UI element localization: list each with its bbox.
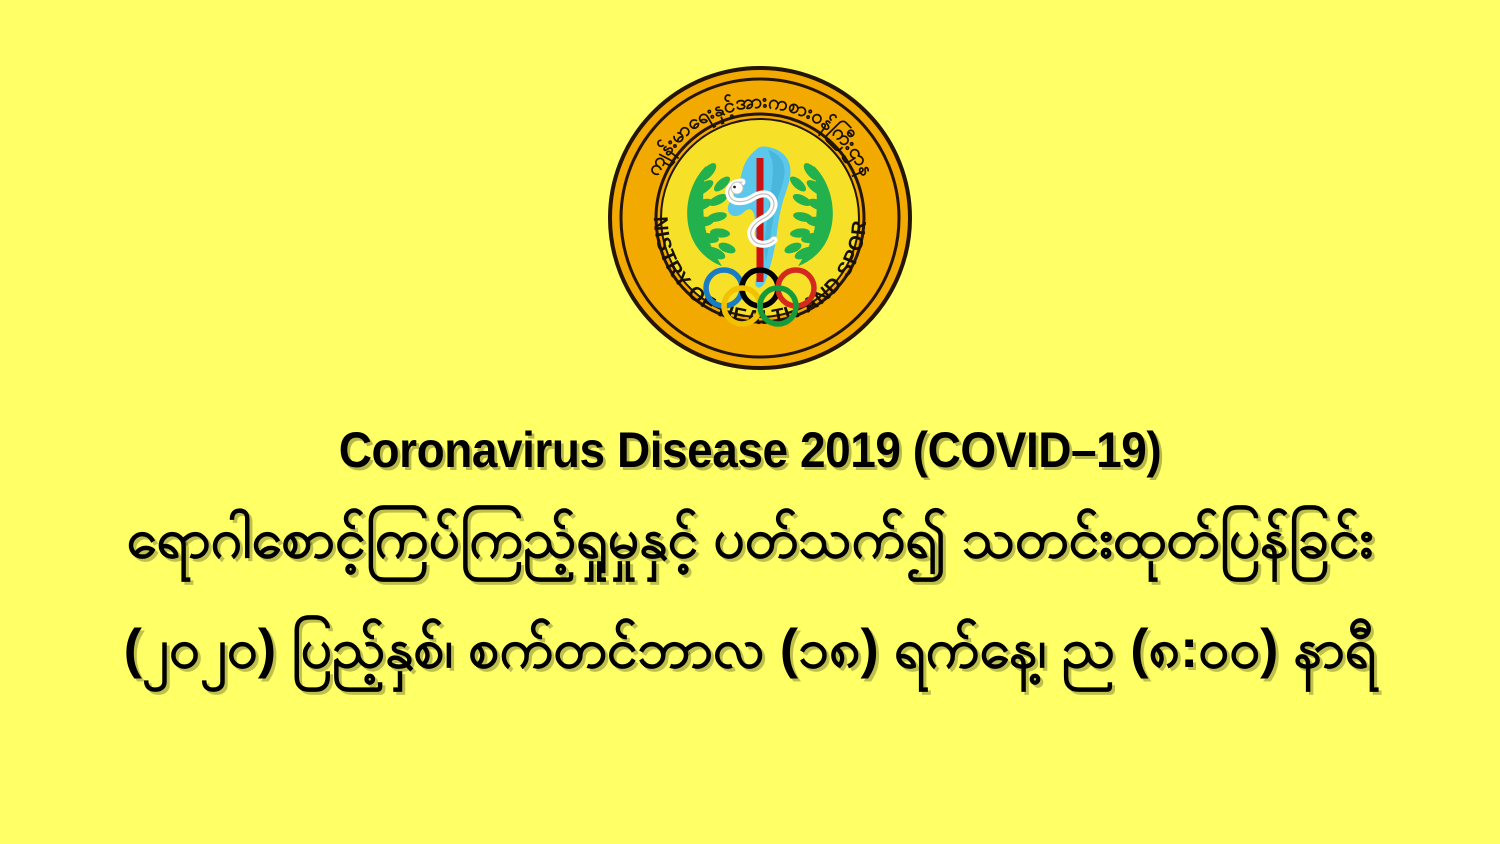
ministry-seal-logo: ကျန်းမာရေးနှင့်အားကစားဝန်ကြီးဌာန MINISTR… <box>608 66 912 370</box>
ministry-seal-svg: ကျန်းမာရေးနှင့်အားကစားဝန်ကြီးဌာန MINISTR… <box>608 66 912 370</box>
page-title-english: Coronavirus Disease 2019 (COVID–19) <box>60 418 1440 482</box>
subtitle-burmese-surveillance: ရောဂါစောင့်ကြပ်ကြည့်ရှုမှုနှင့် ပတ်သက်၍ … <box>0 496 1500 580</box>
announcement-slide: ကျန်းမာရေးနှင့်အားကစားဝန်ကြီးဌာန MINISTR… <box>0 0 1500 844</box>
date-time-burmese: (၂၀၂၀) ပြည့်နှစ်၊ စက်တင်ဘာလ (၁၈) ရက်နေ့၊… <box>0 602 1500 694</box>
announcement-text-block: Coronavirus Disease 2019 (COVID–19) ရောဂ… <box>0 418 1500 694</box>
